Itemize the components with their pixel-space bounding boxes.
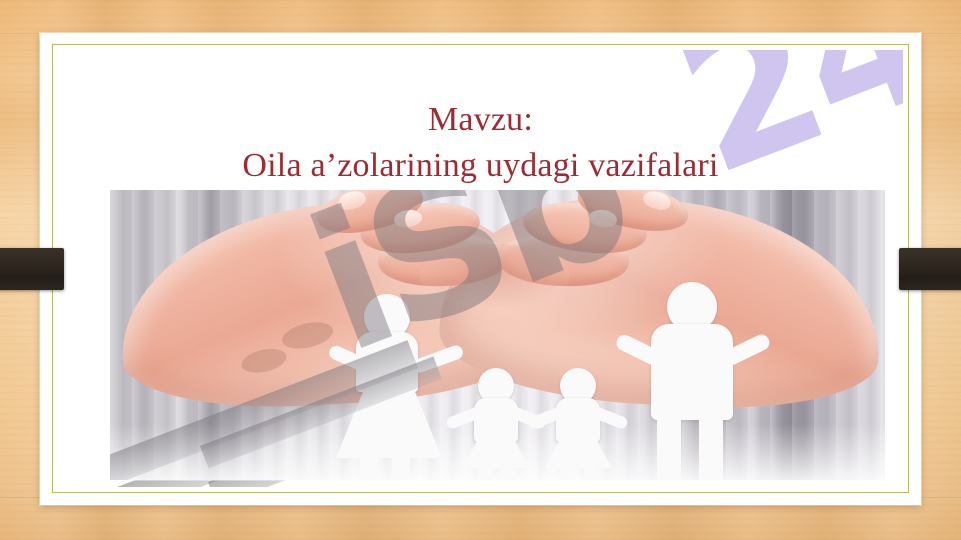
slide-stage: 24 Mavzu: Oila a’zolarining uydagi vazif…	[0, 0, 961, 540]
slide-card: 24 Mavzu: Oila a’zolarining uydagi vazif…	[40, 33, 921, 505]
slide-title-block: Mavzu: Oila a’zolarining uydagi vazifala…	[58, 97, 903, 188]
figure-leg	[584, 464, 598, 480]
paper-figure-child-left	[460, 368, 532, 480]
figure-skirt	[462, 434, 530, 468]
title-line-subject: Oila a’zolarining uydagi vazifalari	[58, 143, 903, 189]
figure-leg	[478, 464, 492, 480]
figure-leg	[502, 464, 516, 480]
title-line-mavzu: Mavzu:	[58, 97, 903, 143]
left-accent-bar	[0, 248, 64, 290]
paper-figure-father	[629, 282, 755, 480]
figure-leg	[657, 416, 681, 480]
watermark-number-24: 24	[658, 50, 903, 204]
slide-content-area: 24 Mavzu: Oila a’zolarining uydagi vazif…	[58, 50, 903, 487]
palm-shadow	[280, 318, 336, 353]
paper-figure-mother	[330, 294, 450, 480]
right-accent-bar	[899, 248, 961, 290]
figure-leg	[360, 454, 378, 480]
figure-leg	[560, 464, 574, 480]
figure-leg	[392, 454, 410, 480]
figure-leg	[699, 416, 723, 480]
figure-skirt	[544, 434, 612, 468]
slide-photo-family-hands: iSb	[110, 190, 885, 480]
paper-figure-child-right	[542, 368, 614, 480]
figure-torso	[651, 324, 733, 420]
palm-shadow	[239, 345, 289, 377]
figure-skirt	[336, 380, 442, 458]
